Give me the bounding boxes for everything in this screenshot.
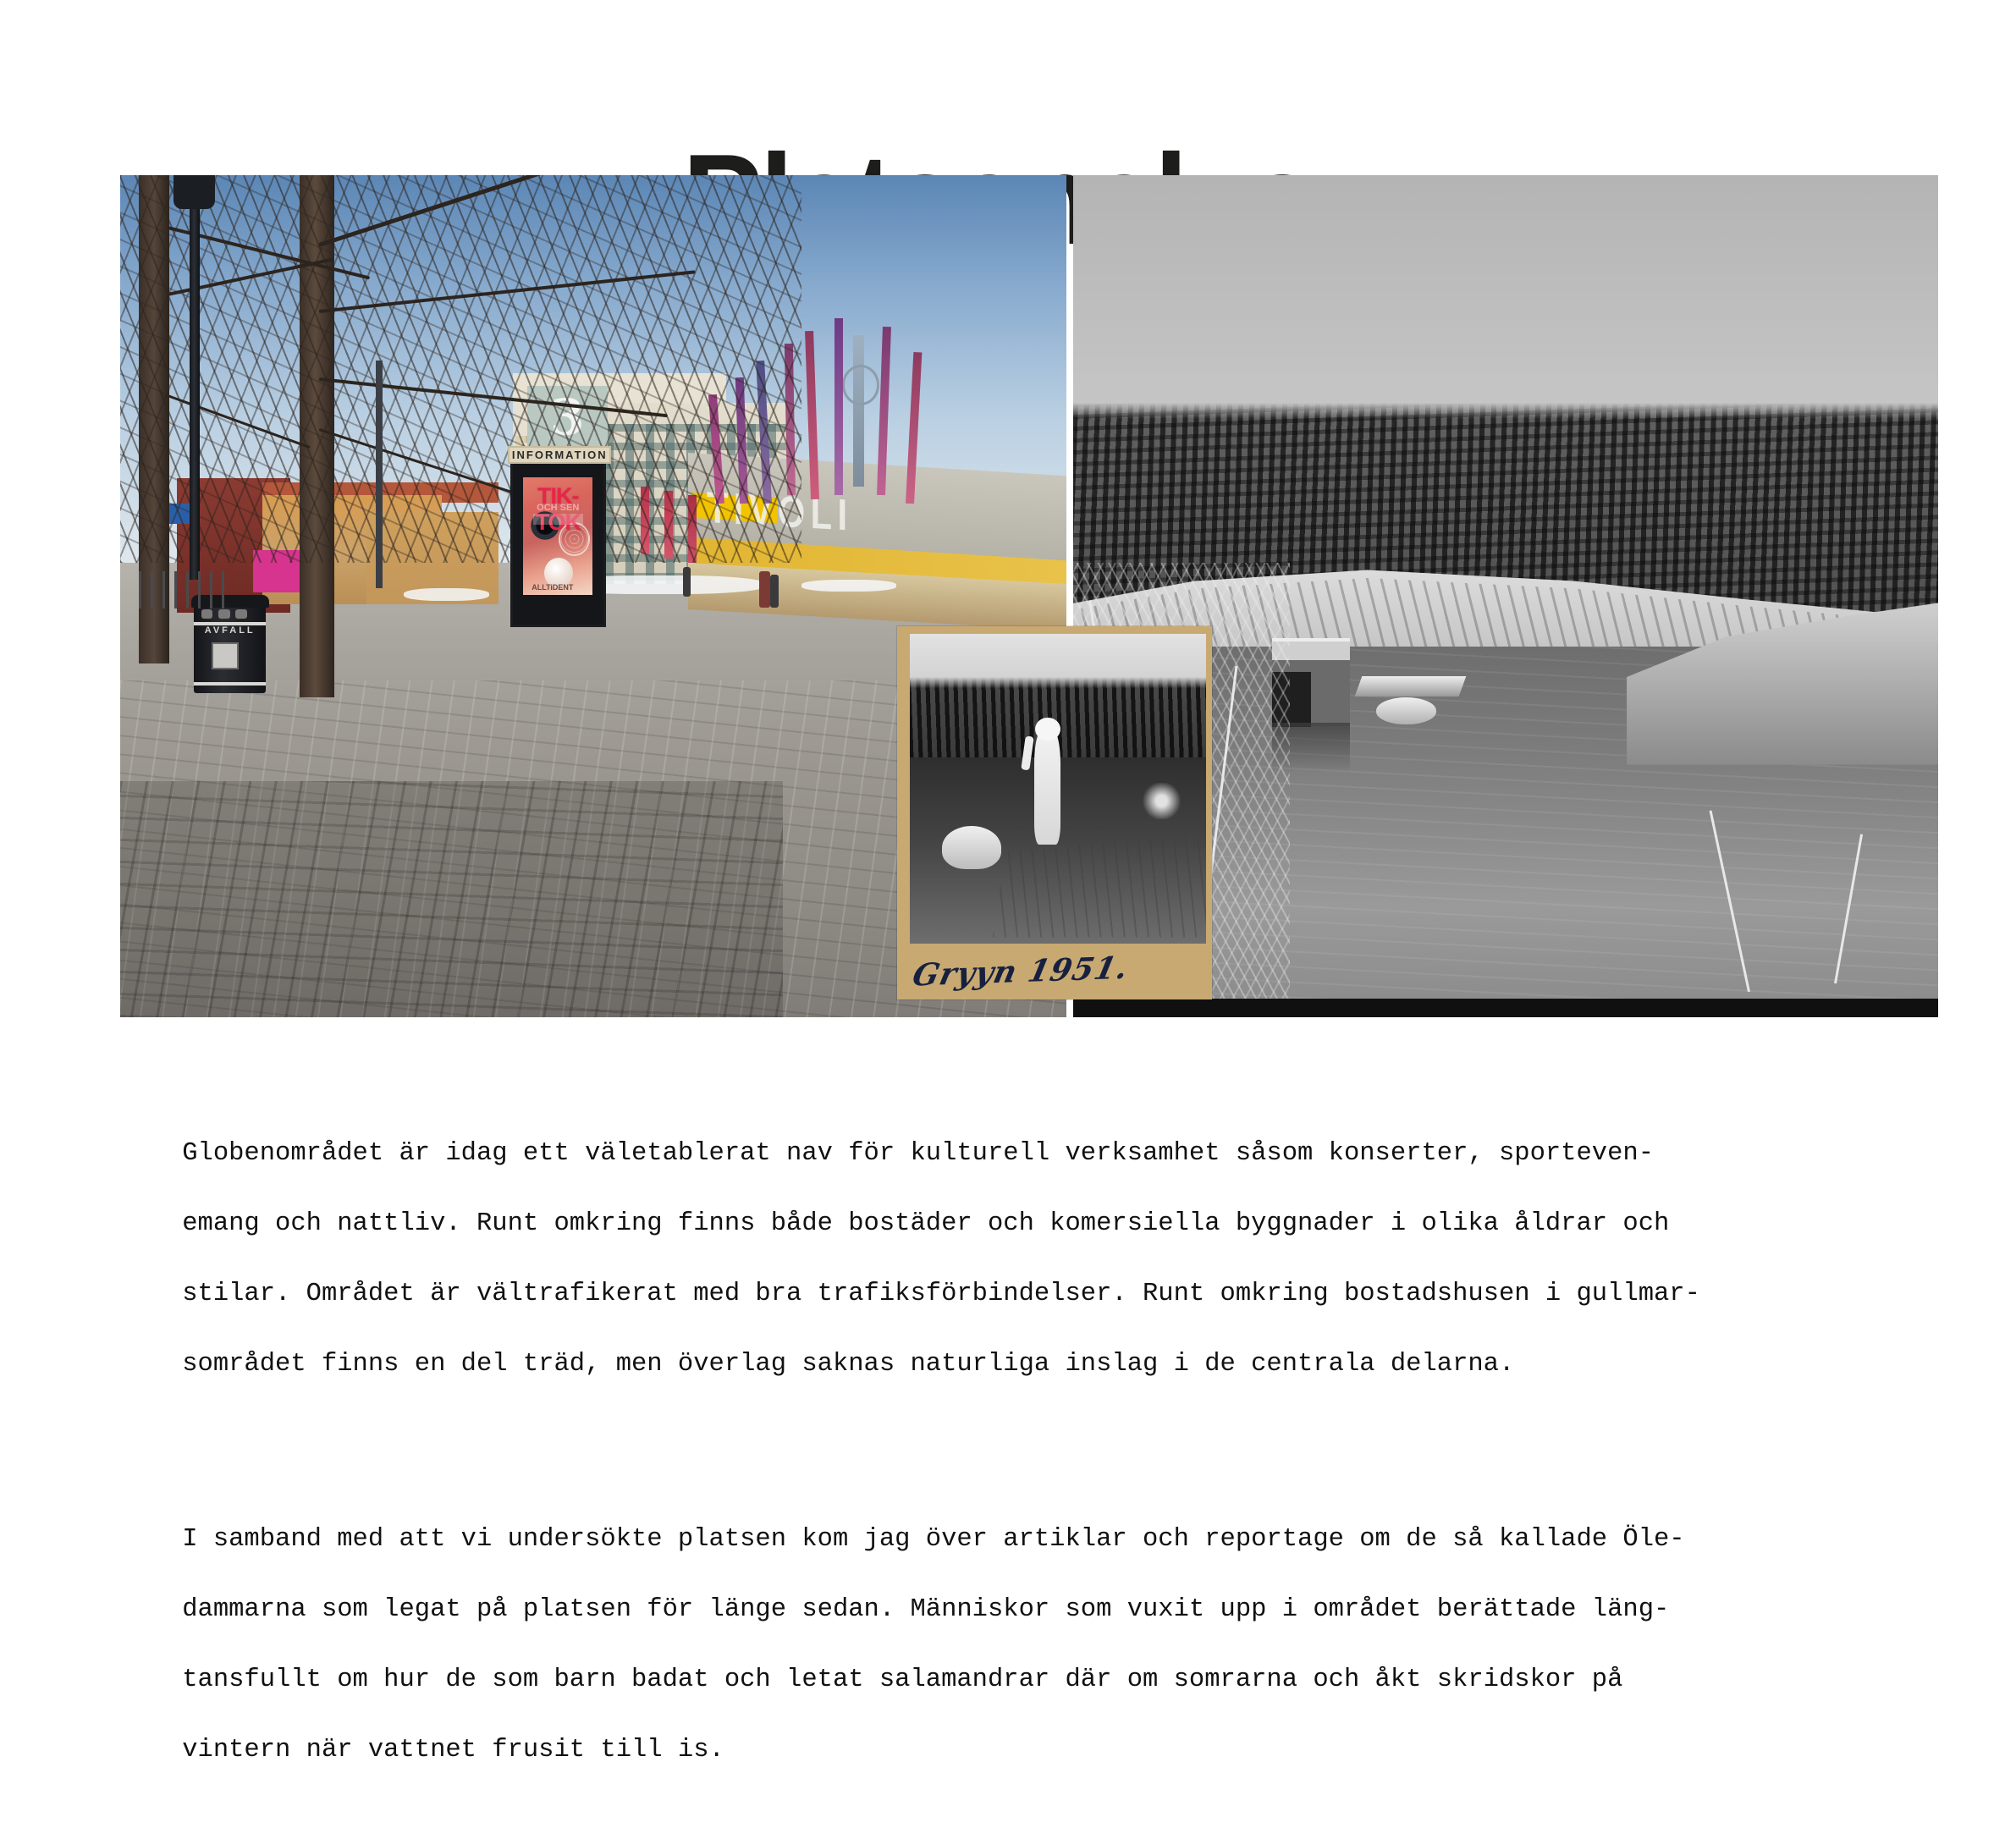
ad-subheadline: OCH SEN — [531, 503, 586, 513]
kiosk-digital-screen[interactable]: TIK-TOK OCH SEN ALLTiDENT — [523, 477, 592, 596]
kiosk-header-label: INFORMATION — [512, 449, 608, 461]
information-kiosk[interactable]: INFORMATION TIK-TOK OCH SEN ALLTiDENT — [510, 458, 606, 627]
rowing-boat — [1376, 697, 1437, 724]
text-line: stilar. Området är vältrafikerat med bra… — [182, 1280, 1700, 1308]
ad-logo: ALLTiDENT — [532, 583, 573, 592]
handwritten-caption: Gryyn 1951. — [908, 943, 1139, 999]
snow-patch — [801, 580, 896, 592]
text-line: I samband med att vi undersökte platsen … — [182, 1525, 1684, 1554]
text-line: vintern när vattnet frusit till is. — [182, 1736, 724, 1765]
body-text: Globenområdet är idag ett väletablerat n… — [120, 1031, 1914, 1839]
paving-pattern-dark — [120, 781, 783, 1017]
water-splash — [1141, 783, 1182, 820]
waste-bin-stripe — [194, 682, 266, 685]
child-standing — [1034, 730, 1060, 844]
lamp-head — [174, 175, 215, 209]
text-line: dammarna som legat på platsen för länge … — [182, 1595, 1669, 1624]
waste-bin-plate — [212, 642, 240, 669]
pedestrian — [759, 571, 770, 608]
text-line: emang och nattliv. Runt omkring finns bå… — [182, 1209, 1669, 1238]
twig-canopy — [120, 175, 801, 563]
photo-bottom-edge — [1073, 999, 1938, 1017]
text-line: tansfullt om hur de som barn badat och l… — [182, 1666, 1622, 1694]
waste-bin: AVFALL — [194, 600, 266, 692]
wooden-dock — [1355, 676, 1466, 697]
waste-bin-label: AVFALL — [194, 625, 266, 636]
kiosk-header: INFORMATION — [508, 446, 611, 464]
snow-patch — [404, 588, 489, 602]
text-line: Globenområdet är idag ett väletablerat n… — [182, 1139, 1654, 1168]
amusement-tower-ring — [842, 365, 879, 405]
railing — [139, 571, 224, 609]
paragraph-2: I samband med att vi undersökte platsen … — [120, 1488, 1914, 1804]
lamp-post — [376, 361, 383, 588]
text-line: sområdet finns en del träd, men överlag … — [182, 1350, 1514, 1379]
second-child — [942, 826, 1001, 869]
ad-body-text-block — [533, 514, 583, 525]
waste-bin-opening — [218, 609, 230, 619]
pedestrian — [683, 567, 691, 597]
amusement-tower — [853, 335, 863, 487]
flag-banner — [834, 318, 843, 495]
waste-bin-opening — [235, 609, 247, 619]
photo-print — [910, 634, 1206, 944]
waste-bin-opening — [201, 609, 213, 619]
paragraph-1: Globenområdet är idag ett väletablerat n… — [120, 1101, 1914, 1418]
child-head — [1035, 718, 1060, 741]
swimming-child-1951-photo: Gryyn 1951. — [897, 626, 1212, 999]
pedestrian — [770, 575, 779, 608]
lamp-post — [190, 175, 200, 580]
